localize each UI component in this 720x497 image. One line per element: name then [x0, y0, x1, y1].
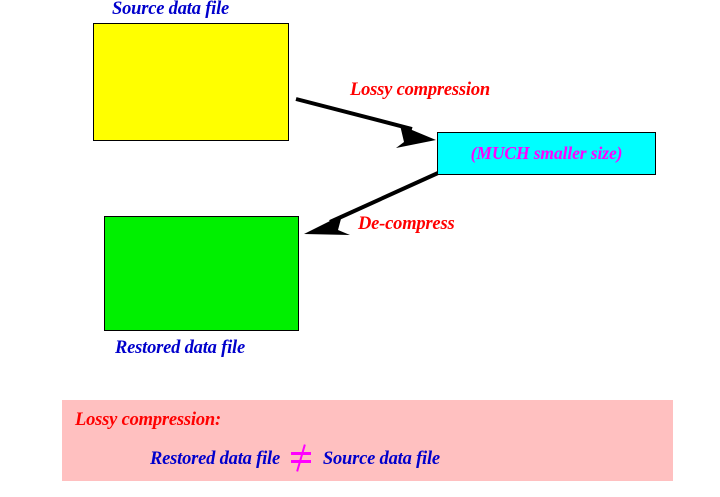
compressed-file-label: (MUCH smaller size): [471, 143, 623, 164]
summary-equation: Restored data file Source data file: [150, 448, 440, 470]
summary-right-term: Source data file: [323, 449, 440, 469]
source-data-file-caption: Source data file: [112, 0, 229, 20]
summary-title: Lossy compression:: [75, 410, 221, 431]
decompress-arrow-label: De-compress: [358, 214, 454, 235]
summary-panel: Lossy compression: Restored data file So…: [62, 400, 673, 481]
compressed-file-box: (MUCH smaller size): [437, 132, 656, 175]
source-data-file-box: [93, 23, 289, 141]
diagram-canvas: Source data file Lossy compression (MUCH…: [0, 0, 720, 497]
not-equal-icon: [288, 448, 314, 467]
restored-data-file-box: [104, 216, 299, 331]
lossy-compression-arrow-label: Lossy compression: [350, 80, 490, 101]
restored-data-file-caption: Restored data file: [115, 338, 245, 359]
summary-left-term: Restored data file: [150, 449, 280, 469]
compress-arrow: [296, 99, 436, 148]
